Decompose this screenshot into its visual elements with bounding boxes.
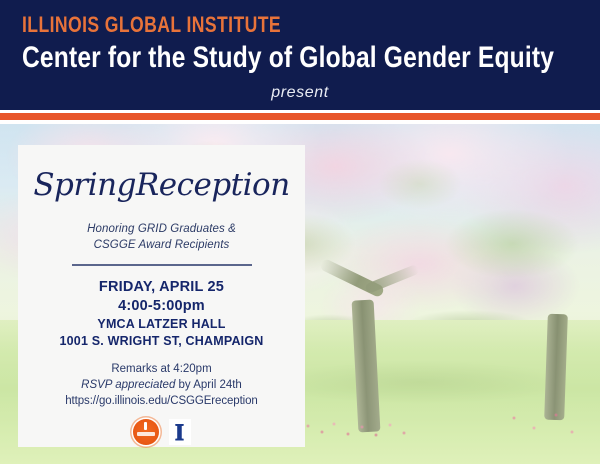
rsvp-note: RSVP appreciated by April 24th xyxy=(18,377,305,393)
honoring-block: Honoring GRID Graduates & CSGGE Award Re… xyxy=(18,221,305,253)
rsvp-block: Remarks at 4:20pm RSVP appreciated by Ap… xyxy=(18,361,305,409)
rsvp-link[interactable]: https://go.illinois.edu/CSGGEreception xyxy=(18,393,305,409)
event-venue: YMCA LATZER HALL xyxy=(18,316,305,333)
block-i-letter: I xyxy=(175,421,184,444)
event-address: 1001 S. WRIGHT ST, CHAMPAIGN xyxy=(18,333,305,350)
event-date: FRIDAY, APRIL 25 xyxy=(18,278,305,297)
event-title: SpringReception xyxy=(18,145,305,203)
invitation-card: SpringReception Honoring GRID Graduates … xyxy=(18,145,305,447)
logo-row: I xyxy=(18,419,305,445)
orange-divider-bar xyxy=(0,113,600,120)
card-divider xyxy=(72,264,252,266)
event-flyer: ILLINOIS GLOBAL INSTITUTE Center for the… xyxy=(0,0,600,464)
remarks-note: Remarks at 4:20pm xyxy=(18,361,305,377)
flyer-header: ILLINOIS GLOBAL INSTITUTE Center for the… xyxy=(0,0,600,110)
honoring-line-2: CSGGE Award Recipients xyxy=(18,237,305,253)
event-details-block: FRIDAY, APRIL 25 4:00-5:00pm YMCA LATZER… xyxy=(18,278,305,350)
rsvp-emphasis: RSVP appreciated xyxy=(81,379,175,391)
block-i-logo-icon: I xyxy=(169,419,191,445)
organization-name: ILLINOIS GLOBAL INSTITUTE xyxy=(22,12,484,38)
rsvp-deadline: by April 24th xyxy=(175,379,241,391)
event-time: 4:00-5:00pm xyxy=(18,297,305,316)
present-label: present xyxy=(0,84,600,102)
center-name: Center for the Study of Global Gender Eq… xyxy=(22,40,496,76)
honoring-line-1: Honoring GRID Graduates & xyxy=(18,221,305,237)
illinois-global-institute-seal-icon xyxy=(133,419,159,445)
